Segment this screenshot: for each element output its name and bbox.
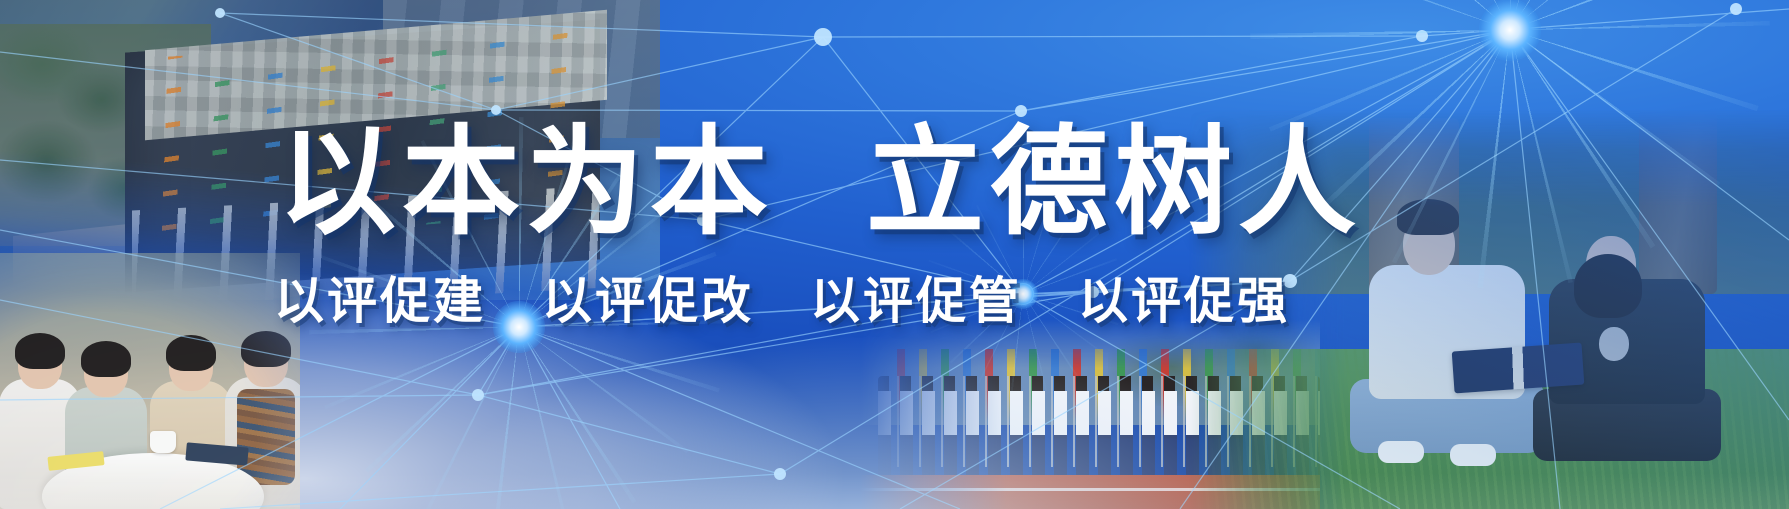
banner-headline: 以本为本 立德树人	[278, 124, 1362, 242]
bottom-edge-fade	[0, 473, 1789, 509]
subtitle-phrase-1: 以评促建	[274, 276, 486, 326]
banner-subtitle: 以评促建 以评促改 以评促管 以评促强	[274, 276, 1290, 326]
banner-text-layer: 以本为本 立德树人 以评促建 以评促改 以评促管 以评促强	[0, 0, 1789, 509]
subtitle-phrase-3: 以评促管	[810, 276, 1022, 326]
subtitle-phrase-2: 以评促改	[542, 276, 754, 326]
subtitle-phrase-4: 以评促强	[1078, 276, 1290, 326]
headline-phrase-1: 以本为本	[278, 124, 774, 242]
campus-banner: 以本为本 立德树人 以评促建 以评促改 以评促管 以评促强	[0, 0, 1789, 509]
headline-phrase-2: 立德树人	[866, 124, 1362, 242]
